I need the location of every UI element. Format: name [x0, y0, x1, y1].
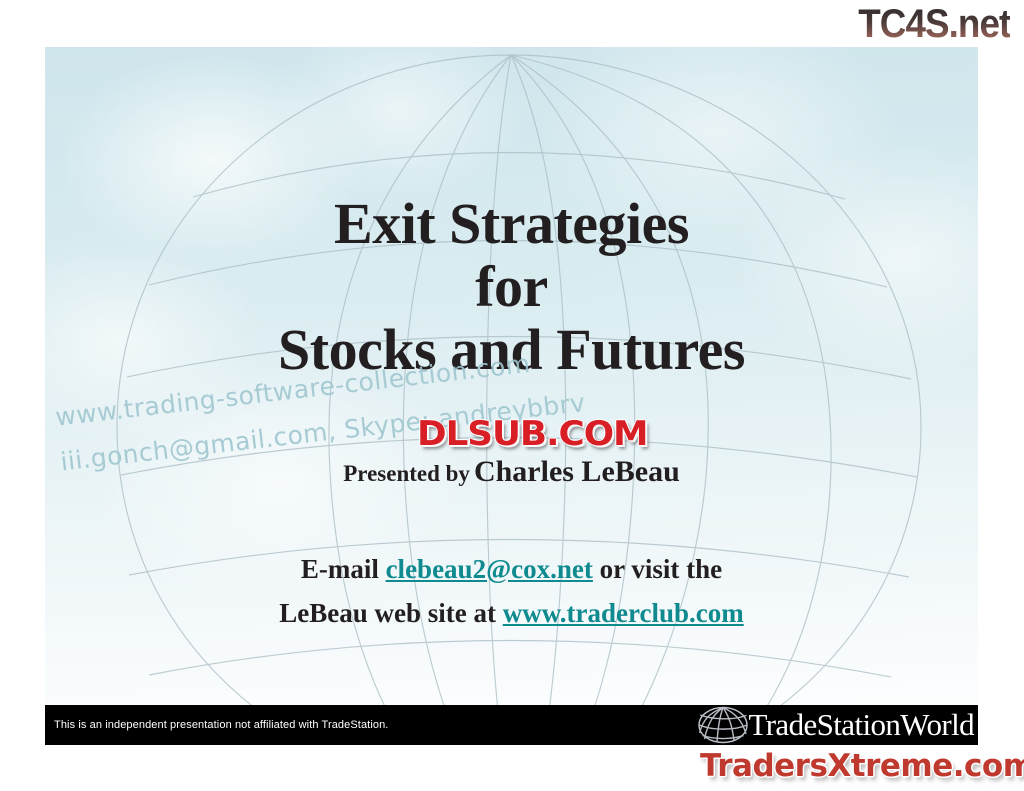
contact-line-1: E-mail clebeau2@cox.net or visit the	[45, 547, 978, 591]
globe-wireframe-background	[45, 47, 978, 745]
contact-block: E-mail clebeau2@cox.net or visit the LeB…	[45, 547, 978, 635]
email-link[interactable]: clebeau2@cox.net	[386, 554, 593, 584]
presenter-prefix: Presented by	[343, 461, 470, 486]
email-label: E-mail	[301, 554, 379, 584]
disclaimer-text: This is an independent presentation not …	[45, 719, 388, 731]
email-suffix: or visit the	[600, 554, 723, 584]
presenter-line: Presented by Charles LeBeau	[45, 455, 978, 489]
presenter-name: Charles LeBeau	[474, 455, 680, 488]
title-line-2: for	[45, 255, 978, 318]
watermark-tradersxtreme: TradersXtreme.com	[700, 749, 1024, 783]
website-link[interactable]: www.traderclub.com	[503, 598, 744, 628]
title-line-1: Exit Strategies	[45, 192, 978, 255]
title-line-3: Stocks and Futures	[45, 318, 978, 381]
watermark-dlsub: DLSUB.COM	[417, 415, 647, 453]
slide-title-block: Exit Strategies for Stocks and Futures	[45, 192, 978, 381]
contact-line-2: LeBeau web site at www.traderclub.com	[45, 591, 978, 635]
globe-icon	[692, 706, 754, 744]
tc4s-site-brand: TC4S.net	[858, 2, 1010, 46]
website-label: LeBeau web site at	[279, 598, 496, 628]
presentation-slide: Exit Strategies for Stocks and Futures P…	[45, 47, 978, 745]
tradestationworld-logo: TradeStationWorld	[692, 705, 978, 745]
slide-footer-bar: This is an independent presentation not …	[45, 705, 978, 745]
tradestationworld-wordmark: TradeStationWorld	[748, 708, 974, 742]
